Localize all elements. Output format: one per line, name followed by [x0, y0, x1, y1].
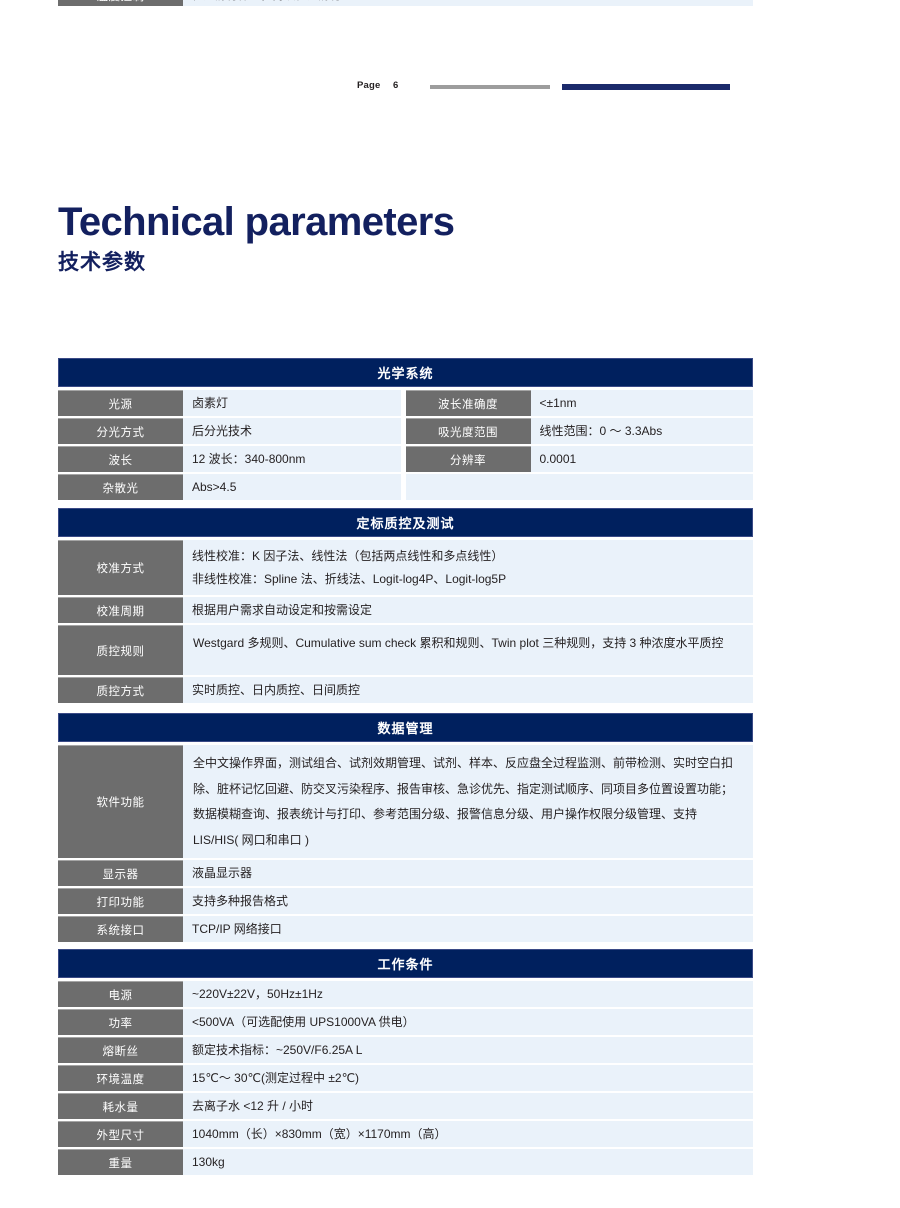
table-row: 显示器 液晶显示器	[58, 860, 753, 886]
table-row: 环境温度 15℃～ 30℃(测定过程中 ±2℃)	[58, 1065, 753, 1091]
section-rows: 校准方式 线性校准：K 因子法、线性法（包括两点线性和多点线性） 非线性校准：S…	[58, 540, 753, 703]
table-row: 功率 <500VA（可选配使用 UPS1000VA 供电）	[58, 1009, 753, 1035]
row-value: 根据用户需求自动设定和按需设定	[183, 597, 753, 623]
table-row: 熔断丝 额定技术指标：~250V/F6.25A L	[58, 1037, 753, 1063]
row-label: 软件功能	[58, 745, 183, 858]
table-row: 外型尺寸 1040mm（长）×830mm（宽）×1170mm（高）	[58, 1121, 753, 1147]
page-number: 6	[393, 80, 398, 91]
row-label: 质控方式	[58, 677, 183, 703]
row-label: 外型尺寸	[58, 1121, 183, 1147]
row-value-line: 非线性校准：Spline 法、折线法、Logit-log4P、Logit-log…	[192, 568, 744, 591]
table-row: 软件功能 全中文操作界面，测试组合、试剂效期管理、试剂、样本、反应盘全过程监测、…	[58, 745, 753, 858]
row-label: 校准方式	[58, 540, 183, 595]
row-label: 吸光度范围	[406, 418, 531, 444]
section-rows: 电源 ~220V±22V，50Hz±1Hz 功率 <500VA（可选配使用 UP…	[58, 981, 753, 1175]
row-value: 液晶显示器	[183, 860, 753, 886]
table-row: 重量 130kg	[58, 1149, 753, 1175]
section-data-management: 数据管理 软件功能 全中文操作界面，测试组合、试剂效期管理、试剂、样本、反应盘全…	[58, 713, 753, 944]
row-label: 质控规则	[58, 625, 183, 675]
table-row: 打印功能 支持多种报告格式	[58, 888, 753, 914]
row-value: 实时质控、日内质控、日间质控	[183, 677, 753, 703]
row-value: <500VA（可选配使用 UPS1000VA 供电）	[183, 1009, 753, 1035]
row-value: 支持多种报告格式	[183, 888, 753, 914]
row-value: TCP/IP 网络接口	[183, 916, 753, 942]
row-label: 重量	[58, 1149, 183, 1175]
section-heading: 数据管理	[58, 713, 753, 742]
row-value: ~220V±22V，50Hz±1Hz	[183, 981, 753, 1007]
row-value: 去离子水 <12 升 / 小时	[183, 1093, 753, 1119]
row-label: 显示器	[58, 860, 183, 886]
row-value: Westgard 多规则、Cumulative sum check 累积和规则、…	[183, 625, 753, 675]
row-label: 功率	[58, 1009, 183, 1035]
section-heading: 定标质控及测试	[58, 508, 753, 537]
section-rows: 软件功能 全中文操作界面，测试组合、试剂效期管理、试剂、样本、反应盘全过程监测、…	[58, 745, 753, 942]
title-chinese: 技术参数	[58, 250, 454, 276]
row-label: 熔断丝	[58, 1037, 183, 1063]
table-row: 耗水量 去离子水 <12 升 / 小时	[58, 1093, 753, 1119]
row-label: 分辨率	[406, 446, 531, 472]
table-row: 光源卤素灯 波长准确度<±1nm	[58, 390, 753, 416]
table-row: 质控方式 实时质控、日内质控、日间质控	[58, 677, 753, 703]
section-working-conditions: 工作条件 电源 ~220V±22V，50Hz±1Hz 功率 <500VA（可选配…	[58, 949, 753, 1177]
table-row: 校准方式 线性校准：K 因子法、线性法（包括两点线性和多点线性） 非线性校准：S…	[58, 540, 753, 595]
title-english: Technical parameters	[58, 200, 454, 244]
section-calibration-qc: 定标质控及测试 校准方式 线性校准：K 因子法、线性法（包括两点线性和多点线性）…	[58, 508, 753, 705]
row-value: 线性校准：K 因子法、线性法（包括两点线性和多点线性） 非线性校准：Spline…	[183, 540, 753, 595]
row-value: 线性范围：0 ～ 3.3Abs	[531, 418, 754, 444]
table-row: 系统接口 TCP/IP 网络接口	[58, 916, 753, 942]
row-value: 1040mm（长）×830mm（宽）×1170mm（高）	[183, 1121, 753, 1147]
row-value: 15℃～ 30℃(测定过程中 ±2℃)	[183, 1065, 753, 1091]
row-value: 0.0001	[531, 446, 754, 472]
section-rows: 光源卤素灯 波长准确度<±1nm 分光方式后分光技术 吸光度范围线性范围：0 ～…	[58, 390, 753, 500]
row-label: 光源	[58, 390, 183, 416]
row-label: 打印功能	[58, 888, 183, 914]
row-label: 系统接口	[58, 916, 183, 942]
row-value: Abs>4.5	[183, 474, 401, 500]
table-row: 波长12 波长：340-800nm 分辨率0.0001	[58, 446, 753, 472]
table-row: 校准周期 根据用户需求自动设定和按需设定	[58, 597, 753, 623]
row-value: 后分光技术	[183, 418, 401, 444]
cutoff-row-fragment: 温度控制 恒温孵育体系，持续恒温孵育	[58, 0, 753, 6]
row-value: 卤素灯	[183, 390, 401, 416]
row-value: 全中文操作界面，测试组合、试剂效期管理、试剂、样本、反应盘全过程监测、前带检测、…	[183, 745, 753, 858]
row-label: 分光方式	[58, 418, 183, 444]
page-title: Technical parameters 技术参数	[58, 200, 454, 276]
page-header: Page 6	[0, 78, 900, 98]
cutoff-row-value: 恒温孵育体系，持续恒温孵育	[183, 0, 753, 6]
row-label: 耗水量	[58, 1093, 183, 1119]
table-row: 电源 ~220V±22V，50Hz±1Hz	[58, 981, 753, 1007]
table-row: 杂散光Abs>4.5	[58, 474, 753, 500]
table-row: 分光方式后分光技术 吸光度范围线性范围：0 ～ 3.3Abs	[58, 418, 753, 444]
section-optical-system: 光学系统 光源卤素灯 波长准确度<±1nm 分光方式后分光技术 吸光度范围线性范…	[58, 358, 753, 502]
row-value: 12 波长：340-800nm	[183, 446, 401, 472]
row-label: 校准周期	[58, 597, 183, 623]
row-label: 电源	[58, 981, 183, 1007]
row-label: 波长准确度	[406, 390, 531, 416]
page-label: Page	[357, 80, 381, 91]
row-label: 波长	[58, 446, 183, 472]
header-gray-bar	[430, 85, 550, 89]
row-value: 额定技术指标：~250V/F6.25A L	[183, 1037, 753, 1063]
row-value: 130kg	[183, 1149, 753, 1175]
row-value-line: 线性校准：K 因子法、线性法（包括两点线性和多点线性）	[192, 545, 744, 568]
row-label: 环境温度	[58, 1065, 183, 1091]
row-label: 杂散光	[58, 474, 183, 500]
section-heading: 工作条件	[58, 949, 753, 978]
row-value: <±1nm	[531, 390, 754, 416]
header-navy-bar	[562, 84, 730, 90]
row-empty-filler	[406, 474, 754, 500]
table-row: 质控规则 Westgard 多规则、Cumulative sum check 累…	[58, 625, 753, 675]
section-heading: 光学系统	[58, 358, 753, 387]
cutoff-row-label: 温度控制	[58, 0, 183, 6]
